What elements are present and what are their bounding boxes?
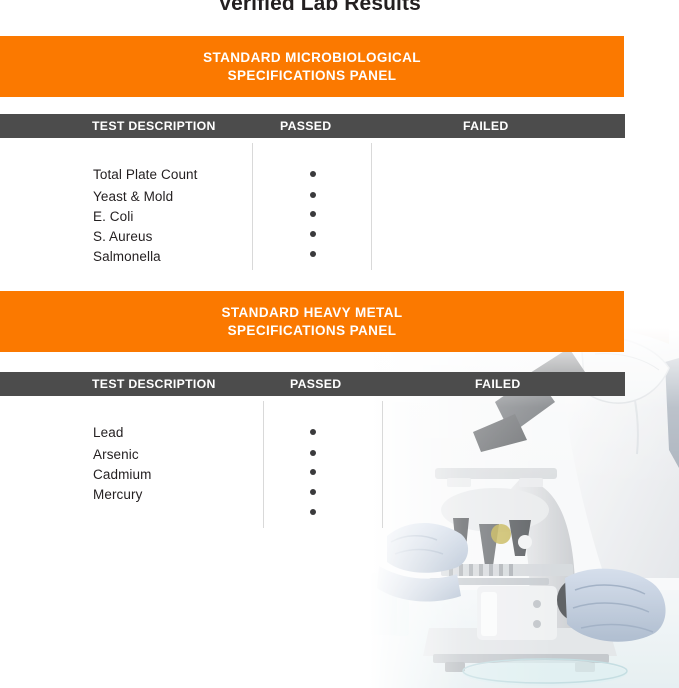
passed-mark [310,231,316,237]
table-row: Salmonella [93,249,161,264]
passed-mark [310,489,316,495]
column-header-passed: PASSED [280,119,331,133]
table-body-heavy-metal: Lead Arsenic Cadmium Mercury [0,401,625,528]
passed-mark [310,192,316,198]
panel-heading-line1: STANDARD HEAVY METAL [221,304,402,321]
passed-mark [310,429,316,435]
column-divider-left [263,401,264,528]
table-header-microbiological: TEST DESCRIPTION PASSED FAILED [0,114,625,138]
panel-heading-microbiological: STANDARD MICROBIOLOGICAL SPECIFICATIONS … [0,36,624,97]
panel-heading-line2: SPECIFICATIONS PANEL [228,322,397,339]
table-header-heavy-metal: TEST DESCRIPTION PASSED FAILED [0,372,625,396]
table-row: Mercury [93,487,142,502]
table-row: Arsenic [93,447,139,462]
panel-heading-heavy-metal: STANDARD HEAVY METAL SPECIFICATIONS PANE… [0,291,624,352]
column-divider-left [252,143,253,270]
page-title: Verified Lab Results [0,0,639,16]
table-body-microbiological: Total Plate Count Yeast & Mold E. Coli S… [0,143,625,270]
column-divider-right [371,143,372,270]
column-header-passed: PASSED [290,377,341,391]
table-row: E. Coli [93,209,133,224]
column-divider-right [382,401,383,528]
column-header-failed: FAILED [463,119,509,133]
column-header-failed: FAILED [475,377,521,391]
passed-mark [310,469,316,475]
column-header-test-description: TEST DESCRIPTION [92,119,216,133]
panel-heading-line2: SPECIFICATIONS PANEL [228,67,397,84]
passed-mark [310,171,316,177]
passed-mark [310,509,316,515]
table-row: S. Aureus [93,229,152,244]
verified-lab-results-page: Verified Lab Results STANDARD MICROBIOLO… [0,0,679,688]
panel-heading-line1: STANDARD MICROBIOLOGICAL [203,49,421,66]
table-row: Lead [93,425,123,440]
column-header-test-description: TEST DESCRIPTION [92,377,216,391]
passed-mark [310,251,316,257]
passed-mark [310,450,316,456]
table-row: Yeast & Mold [93,189,173,204]
table-row: Total Plate Count [93,167,198,182]
table-row: Cadmium [93,467,151,482]
passed-mark [310,211,316,217]
